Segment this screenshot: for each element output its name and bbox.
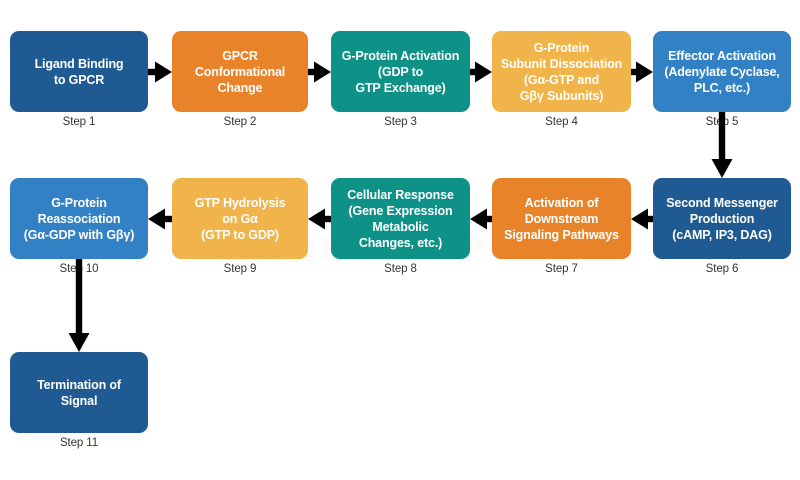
flow-node-step7[interactable]: Activation of Downstream Signaling Pathw…	[492, 178, 631, 259]
flow-node-step4[interactable]: G-Protein Subunit Dissociation (Gα-GTP a…	[492, 31, 631, 112]
step-label-step9: Step 9	[172, 263, 308, 275]
flow-node-step9[interactable]: GTP Hydrolysis on Gα (GTP to GDP)	[172, 178, 308, 259]
flow-node-step3[interactable]: G-Protein Activation (GDP to GTP Exchang…	[331, 31, 470, 112]
arrow-left-step6-to-step7	[631, 206, 653, 232]
flow-node-label: Ligand Binding to GPCR	[35, 56, 124, 88]
step-label-step2: Step 2	[172, 116, 308, 128]
arrow-left-step9-to-step10	[148, 206, 172, 232]
step-label-step7: Step 7	[492, 263, 631, 275]
arrow-right-step2-to-step3	[308, 59, 331, 85]
arrow-left-step7-to-step8	[470, 206, 492, 232]
flow-node-label: Cellular Response (Gene Expression Metab…	[347, 187, 454, 251]
flow-node-label: Second Messenger Production (cAMP, IP3, …	[666, 195, 778, 243]
arrow-right-step4-to-step5	[631, 59, 653, 85]
step-label-step4: Step 4	[492, 116, 631, 128]
arrow-down-step5-to-step6	[707, 112, 737, 178]
step-label-step11: Step 11	[10, 437, 148, 449]
flow-node-step6[interactable]: Second Messenger Production (cAMP, IP3, …	[653, 178, 791, 259]
flow-node-label: Activation of Downstream Signaling Pathw…	[504, 195, 619, 243]
flow-node-label: G-Protein Subunit Dissociation (Gα-GTP a…	[501, 40, 622, 104]
step-label-step3: Step 3	[331, 116, 470, 128]
flow-node-label: G-Protein Reassociation (Gα-GDP with Gβγ…	[24, 195, 134, 243]
flow-node-label: Effector Activation (Adenylate Cyclase, …	[664, 48, 779, 96]
flow-node-step1[interactable]: Ligand Binding to GPCR	[10, 31, 148, 112]
arrow-right-step3-to-step4	[470, 59, 492, 85]
flow-node-step10[interactable]: G-Protein Reassociation (Gα-GDP with Gβγ…	[10, 178, 148, 259]
arrow-down-step10-to-step11	[64, 259, 94, 352]
step-label-step6: Step 6	[653, 263, 791, 275]
step-label-step8: Step 8	[331, 263, 470, 275]
flow-node-step11[interactable]: Termination of Signal	[10, 352, 148, 433]
flow-node-label: G-Protein Activation (GDP to GTP Exchang…	[342, 48, 459, 96]
flow-node-step2[interactable]: GPCR Conformational Change	[172, 31, 308, 112]
flowchart-canvas: dreamstimecamstimeLigand Binding to GPCR…	[0, 0, 800, 480]
arrow-left-step8-to-step9	[308, 206, 331, 232]
flow-node-step5[interactable]: Effector Activation (Adenylate Cyclase, …	[653, 31, 791, 112]
flow-node-label: GPCR Conformational Change	[195, 48, 285, 96]
arrow-right-step1-to-step2	[148, 59, 172, 85]
flow-node-label: Termination of Signal	[37, 377, 121, 409]
flow-node-label: GTP Hydrolysis on Gα (GTP to GDP)	[195, 195, 286, 243]
flow-node-step8[interactable]: Cellular Response (Gene Expression Metab…	[331, 178, 470, 259]
step-label-step1: Step 1	[10, 116, 148, 128]
